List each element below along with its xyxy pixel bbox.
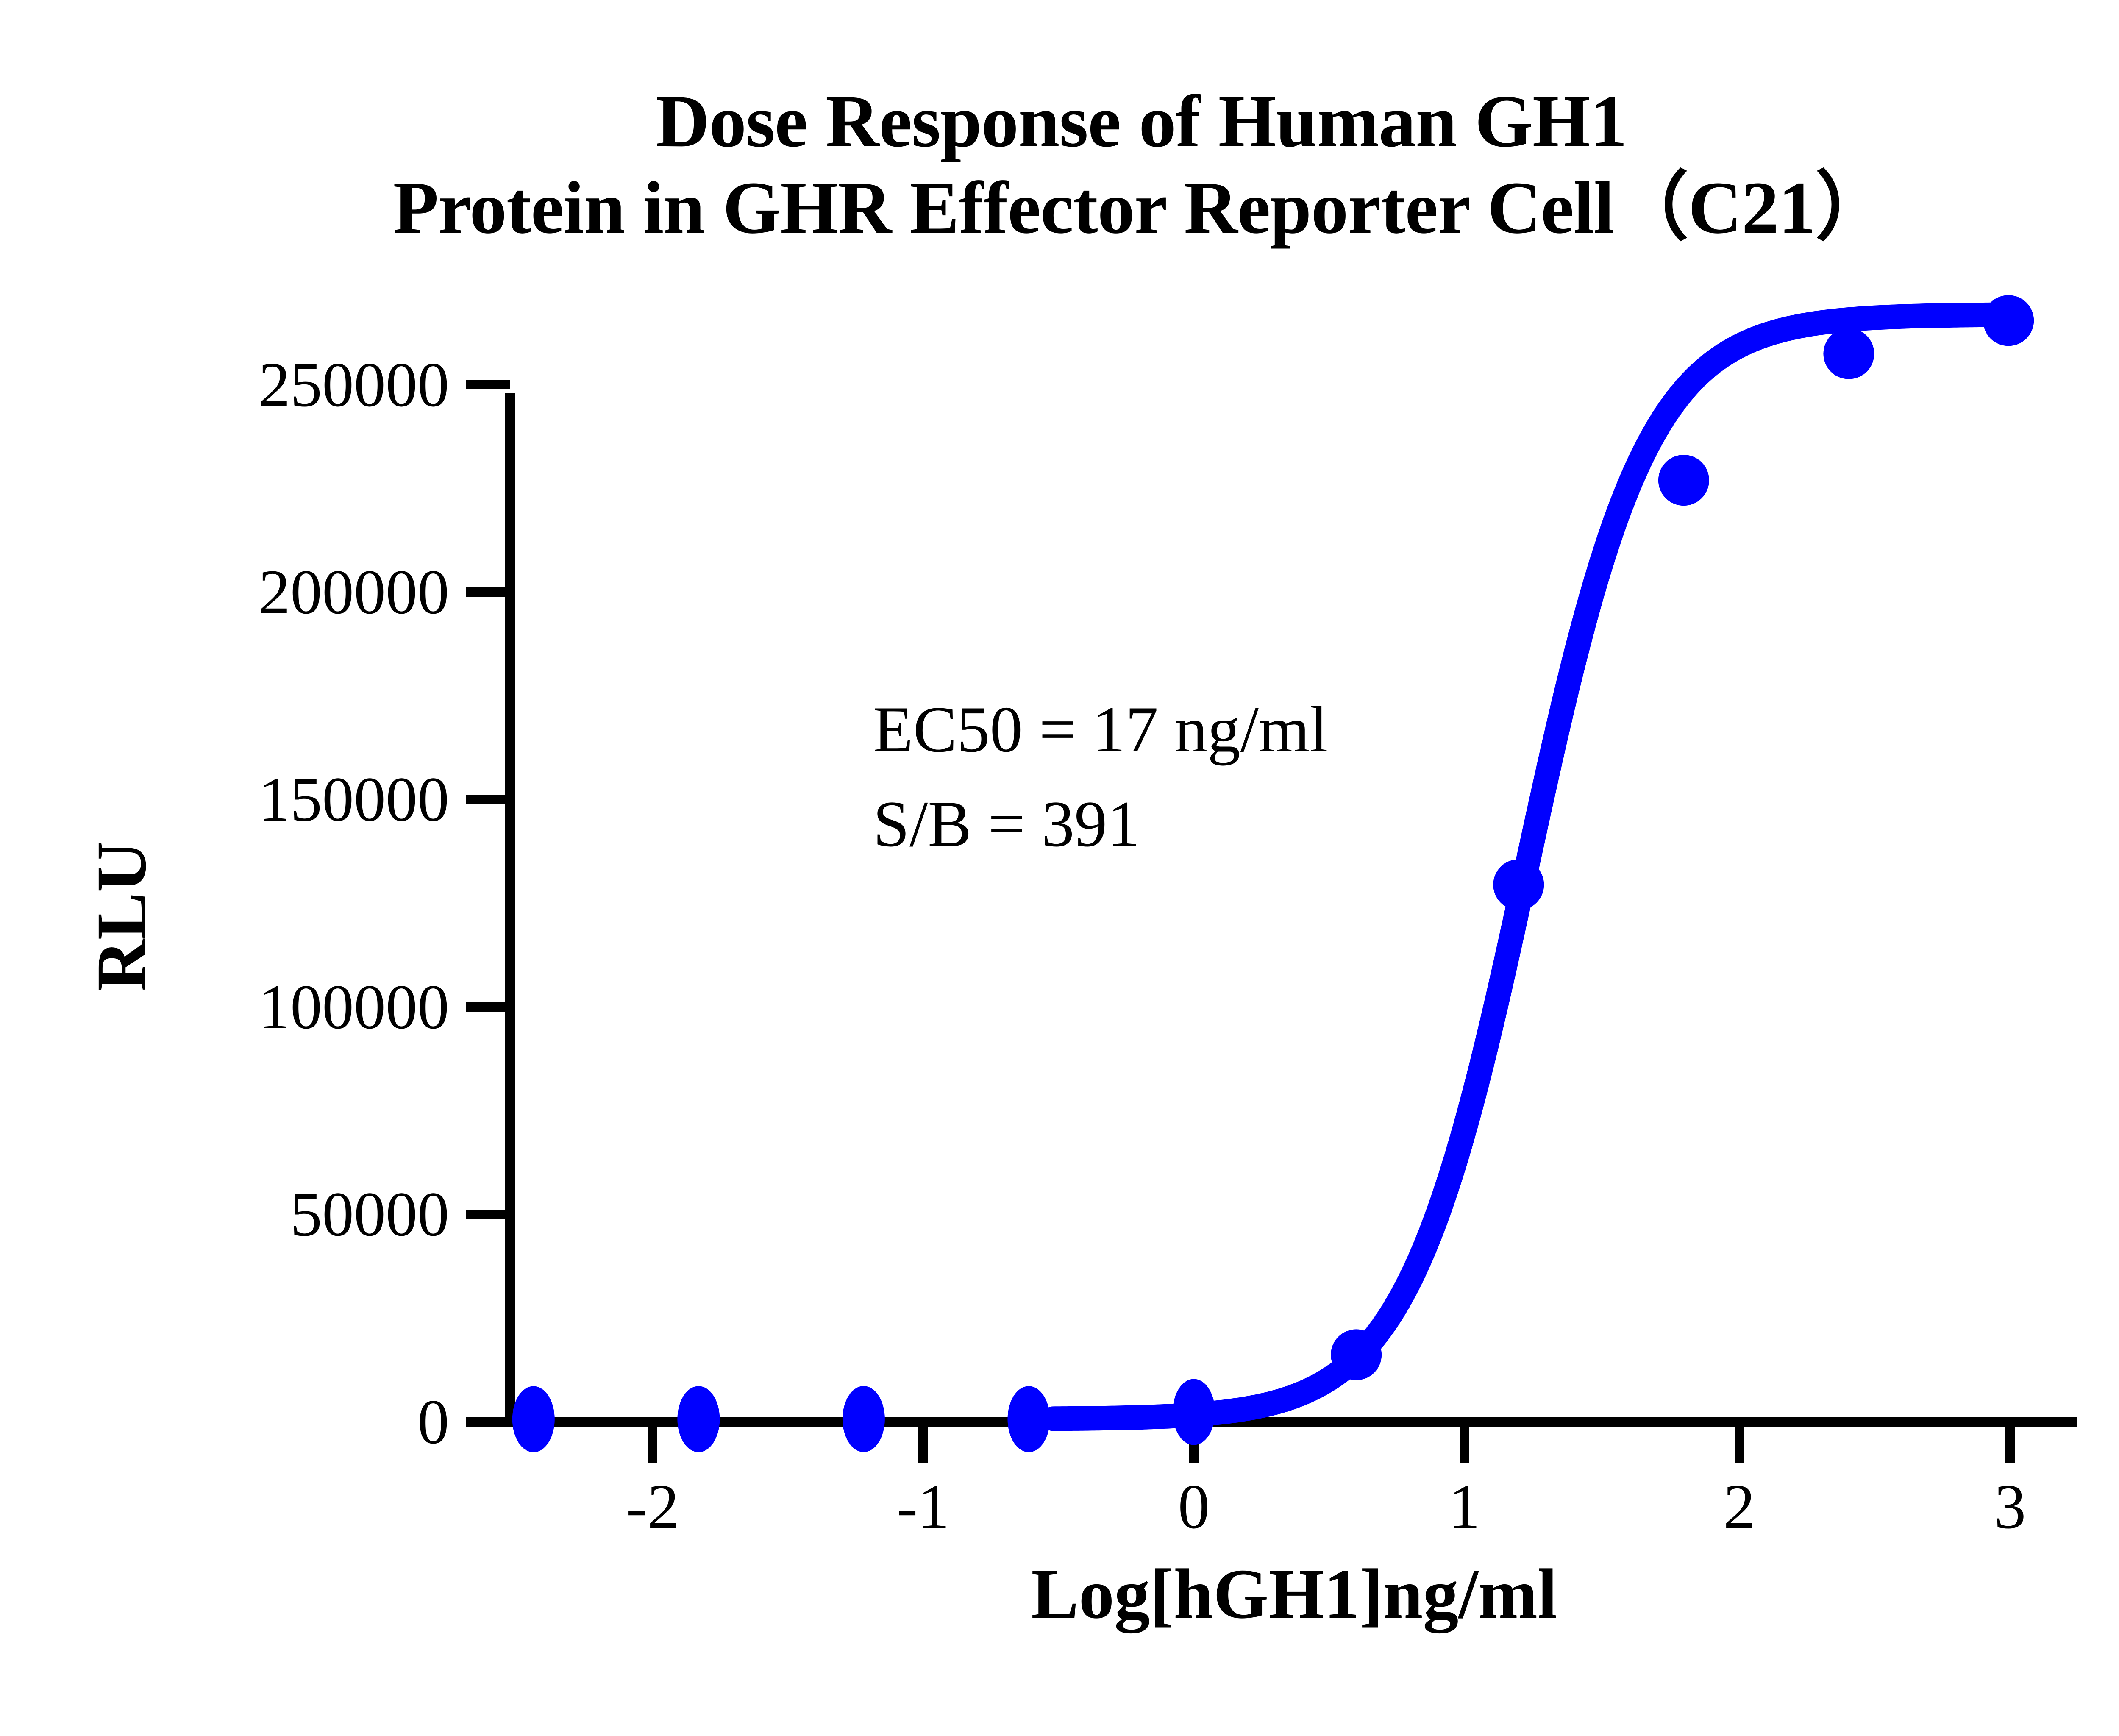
y-tick-label-250000: 250000 bbox=[85, 353, 449, 417]
x-tick-label-3: 3 bbox=[1994, 1475, 2026, 1538]
data-point bbox=[677, 1386, 720, 1452]
y-tick-label-200000: 200000 bbox=[85, 560, 449, 624]
annotation-ec50: EC50 = 17 ng/ml bbox=[873, 682, 1328, 777]
data-point bbox=[1983, 295, 2034, 346]
data-point bbox=[1658, 455, 1709, 506]
x-tick-label-2: 2 bbox=[1724, 1475, 1755, 1538]
x-tick-label-0: 0 bbox=[1178, 1475, 1210, 1538]
annotation-sb: S/B = 391 bbox=[873, 777, 1328, 871]
annotation-block: EC50 = 17 ng/ml S/B = 391 bbox=[873, 682, 1328, 871]
data-point bbox=[1823, 328, 1874, 379]
x-tick-label-neg1: -1 bbox=[897, 1475, 950, 1538]
y-tick-label-0: 0 bbox=[85, 1390, 449, 1454]
x-tick-label-1: 1 bbox=[1449, 1475, 1480, 1538]
x-axis-title: Log[hGH1]ng/ml bbox=[510, 1553, 2078, 1635]
y-axis-ticks bbox=[466, 385, 510, 1422]
y-tick-label-150000: 150000 bbox=[85, 768, 449, 831]
axis-spines bbox=[505, 393, 2077, 1427]
x-tick-label-neg2: -2 bbox=[626, 1475, 679, 1538]
data-point bbox=[1331, 1329, 1382, 1380]
data-point bbox=[843, 1386, 885, 1452]
data-point bbox=[1173, 1379, 1215, 1445]
data-point bbox=[512, 1386, 555, 1452]
data-point bbox=[1493, 859, 1544, 910]
y-tick-label-50000: 50000 bbox=[85, 1182, 449, 1246]
data-point-markers bbox=[512, 295, 2034, 1452]
chart-figure: Dose Response of Human GH1 Protein in GH… bbox=[0, 0, 2119, 1736]
y-axis-title: RLU bbox=[81, 841, 163, 991]
data-point bbox=[1007, 1386, 1050, 1452]
